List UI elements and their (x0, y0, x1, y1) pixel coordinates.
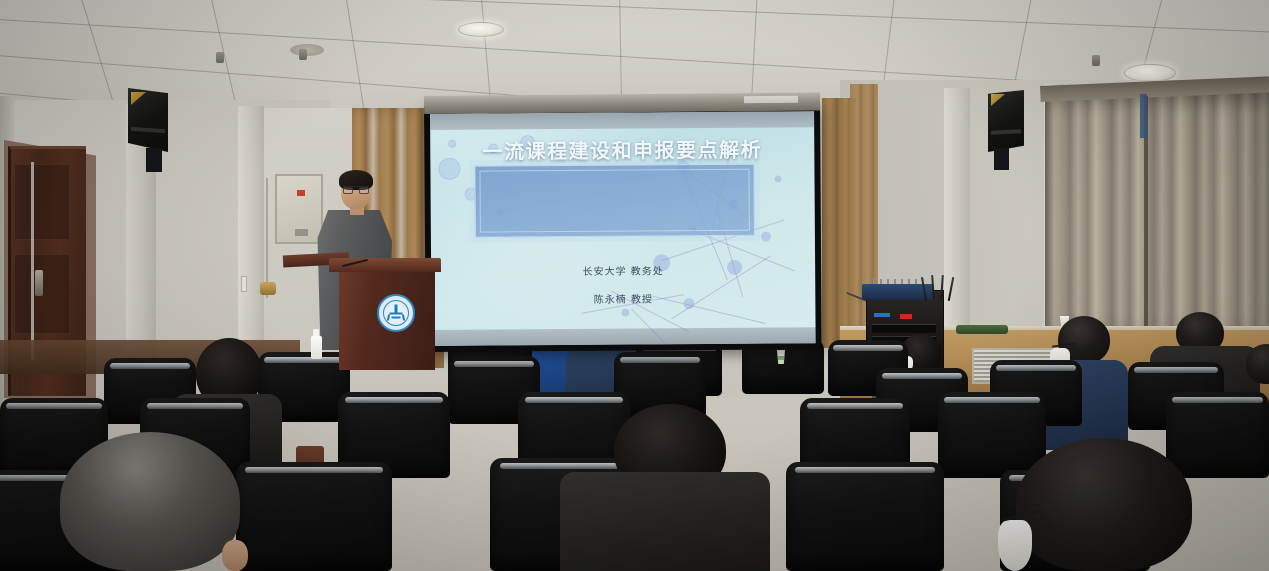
cup-label-icon (778, 356, 784, 360)
housing-brand-label (744, 96, 798, 103)
sprinkler-icon (299, 49, 307, 60)
slide-title-inner-border (479, 169, 749, 233)
conduit-junction-box (260, 282, 276, 295)
rack-unit (872, 324, 936, 333)
lecture-hall-photo: 一流课程建设和申报要点解析 长安大学 教务处 陈永楠 教授 (0, 0, 1269, 571)
slide-title-text: 一流课程建设和申报要点解析 (430, 133, 814, 165)
slide-top-band (430, 111, 814, 130)
emblem-mark (388, 305, 405, 322)
hand-sanitizer-bottle (311, 336, 322, 359)
sprinkler-icon (1092, 55, 1100, 66)
slide-surface: 一流课程建设和申报要点解析 长安大学 教务处 陈永楠 教授 (430, 111, 816, 346)
slide-network-node (621, 309, 629, 317)
door-panel (14, 164, 70, 240)
slide-network-node (774, 176, 781, 183)
green-cloth-object (956, 325, 1008, 334)
face-mask-icon (998, 520, 1032, 571)
slide-subtitle-speaker: 陈永楠 教授 (431, 289, 815, 307)
rack-status-led (874, 313, 890, 317)
auditorium-seat[interactable] (236, 462, 392, 571)
panel-indicator-icon (297, 190, 305, 196)
attendee-head-foreground (60, 432, 240, 571)
speaker-bracket (994, 148, 1009, 170)
auditorium-seat[interactable] (1166, 392, 1269, 478)
presenter-glasses-icon (343, 186, 369, 193)
door-light-reflection (31, 162, 34, 360)
ceiling-vent-icon (290, 44, 324, 56)
attendee-ear (222, 540, 248, 571)
projector-screen-housing (424, 93, 820, 114)
slide-title-plate (474, 164, 754, 238)
attendee-torso (560, 472, 770, 571)
light-switch[interactable] (241, 276, 247, 292)
ceiling-light-icon (458, 22, 504, 37)
auditorium-seat[interactable] (938, 392, 1046, 478)
speaker-bracket (146, 148, 162, 172)
attendee-head-foreground (1016, 438, 1192, 571)
panel-label (295, 229, 308, 236)
sprinkler-icon (216, 52, 224, 63)
door-handle[interactable] (35, 270, 43, 296)
university-crest-emblem-icon (377, 294, 415, 332)
curtain-blue-accent (1140, 94, 1147, 138)
wall-conduit (266, 178, 268, 298)
slide-network-node (761, 232, 771, 242)
auditorium-seat[interactable] (786, 462, 944, 571)
slide-subtitle-organization: 长安大学 教务处 (431, 261, 815, 279)
projection-screen: 一流课程建设和申报要点解析 长安大学 教务处 陈永楠 教授 (424, 103, 822, 352)
window-curtain (1045, 92, 1269, 354)
slide-bottom-band (432, 327, 816, 346)
rack-status-led (900, 314, 912, 319)
